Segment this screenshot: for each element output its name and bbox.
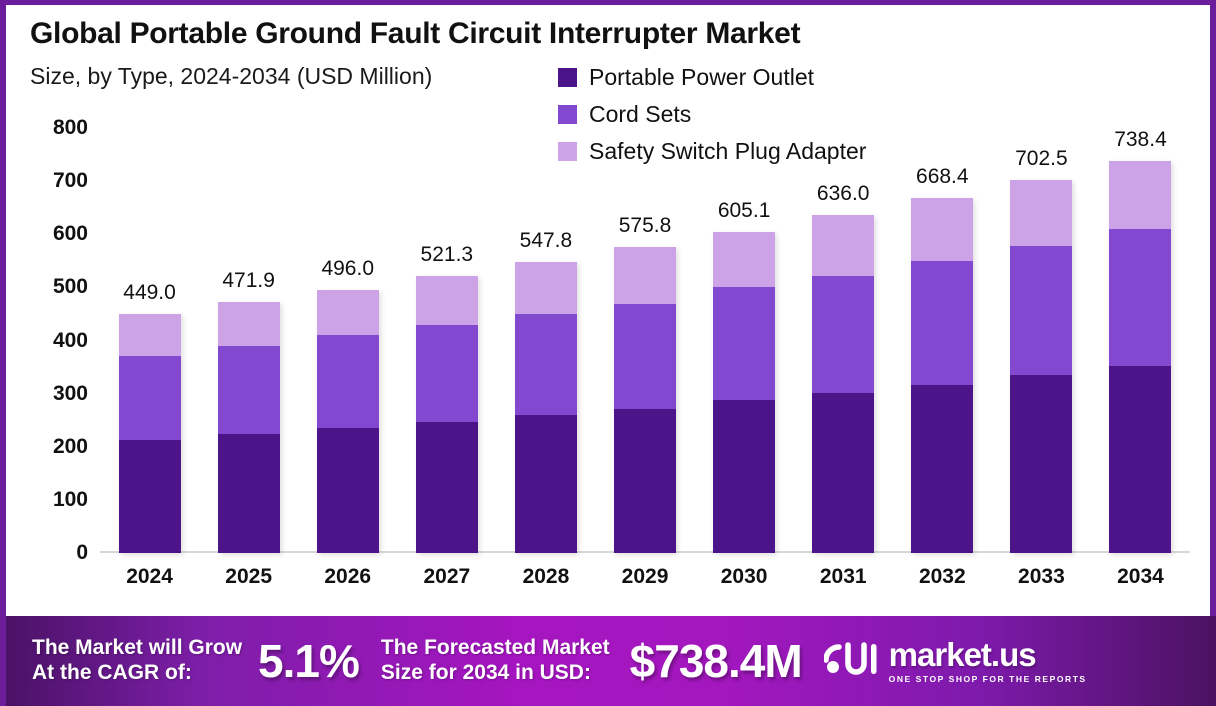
cagr-caption-line2: At the CAGR of: [32,661,242,686]
bar-segment[interactable] [1109,161,1171,229]
y-axis-tick-label: 600 [53,222,88,246]
bar-segment[interactable] [218,302,280,346]
legend-swatch-icon [558,105,577,124]
bar-segment[interactable] [812,393,874,553]
stacked-bar[interactable] [812,215,874,553]
bar-segment[interactable] [1109,366,1171,553]
x-axis-tick-label: 2031 [820,565,867,589]
stacked-bar[interactable] [515,262,577,553]
stacked-bar[interactable] [1109,161,1171,553]
y-axis-tick-label: 500 [53,275,88,299]
bar-segment[interactable] [812,215,874,276]
bar-total-label: 449.0 [123,281,176,305]
bar-segment[interactable] [416,276,478,325]
forecast-caption-line2: Size for 2034 in USD: [381,661,610,686]
footer-banner: The Market will Grow At the CAGR of: 5.1… [6,616,1216,706]
cagr-caption-line1: The Market will Grow [32,636,242,661]
y-axis-tick-label: 400 [53,329,88,353]
chart-plot-area: 8007006005004003002001000 449.02024471.9… [100,128,1190,553]
bar-group: 496.02026 [298,128,397,553]
bar-group: 575.82029 [595,128,694,553]
bar-total-label: 575.8 [619,214,672,238]
bar-segment[interactable] [1010,375,1072,553]
x-axis-tick-label: 2024 [126,565,173,589]
bar-total-label: 738.4 [1114,128,1167,152]
bar-segment[interactable] [515,262,577,314]
bar-segment[interactable] [812,276,874,393]
stacked-bar[interactable] [713,232,775,553]
bar-total-label: 702.5 [1015,147,1068,171]
bar-segment[interactable] [713,287,775,400]
stacked-bar[interactable] [218,302,280,553]
bar-segment[interactable] [911,385,973,553]
bar-group: 471.92025 [199,128,298,553]
bar-segment[interactable] [713,400,775,553]
bar-segment[interactable] [119,314,181,355]
bar-segment[interactable] [515,415,577,553]
bar-total-label: 496.0 [321,257,374,281]
x-axis-tick-label: 2029 [622,565,669,589]
stacked-bar[interactable] [416,276,478,553]
bar-segment[interactable] [218,346,280,434]
forecast-value: $738.4M [630,634,802,688]
x-axis-tick-label: 2033 [1018,565,1065,589]
page-title: Global Portable Ground Fault Circuit Int… [30,17,800,51]
bar-total-label: 668.4 [916,165,969,189]
bar-group: 521.32027 [397,128,496,553]
bar-group: 738.42034 [1091,128,1190,553]
bar-total-label: 636.0 [817,182,870,206]
bar-segment[interactable] [713,232,775,288]
x-axis-tick-label: 2027 [423,565,470,589]
bar-total-label: 521.3 [421,243,474,267]
legend-item-label: Portable Power Outlet [589,64,814,91]
logo-tagline: ONE STOP SHOP FOR THE REPORTS [889,674,1087,684]
bar-segment[interactable] [614,304,676,409]
bar-total-label: 471.9 [222,269,275,293]
x-axis-tick-label: 2030 [721,565,768,589]
bar-segment[interactable] [119,356,181,440]
y-axis-tick-label: 700 [53,169,88,193]
infographic-page: Global Portable Ground Fault Circuit Int… [0,0,1216,706]
y-axis-tick-label: 100 [53,488,88,512]
market-us-logo[interactable]: market.us ONE STOP SHOP FOR THE REPORTS [824,638,1087,684]
bar-segment[interactable] [911,198,973,261]
bar-segment[interactable] [317,335,379,427]
forecast-caption-line1: The Forecasted Market [381,636,610,661]
bar-group: 547.82028 [496,128,595,553]
bar-segment[interactable] [317,290,379,336]
bar-group: 636.02031 [794,128,893,553]
bar-group: 449.02024 [100,128,199,553]
x-axis-tick-label: 2025 [225,565,272,589]
x-axis-tick-label: 2032 [919,565,966,589]
bar-total-label: 547.8 [520,229,573,253]
bar-segment[interactable] [515,314,577,415]
market-us-mark-icon [824,640,880,683]
x-axis-tick-label: 2026 [324,565,371,589]
y-axis-tick-label: 0 [76,541,88,565]
bar-total-label: 605.1 [718,199,771,223]
bar-segment[interactable] [416,422,478,553]
stacked-bar[interactable] [119,314,181,553]
bar-segment[interactable] [218,434,280,553]
bar-segment[interactable] [614,247,676,304]
bar-segment[interactable] [614,409,676,554]
bar-segment[interactable] [1010,180,1072,246]
cagr-value: 5.1% [258,634,359,688]
stacked-bar[interactable] [317,290,379,554]
bar-group: 605.12030 [695,128,794,553]
bar-segment[interactable] [119,440,181,553]
x-axis-tick-label: 2034 [1117,565,1164,589]
stacked-bar[interactable] [911,198,973,553]
bar-segment[interactable] [1010,246,1072,375]
stacked-bar[interactable] [614,247,676,553]
stacked-bar[interactable] [1010,180,1072,553]
bar-segment[interactable] [1109,229,1171,366]
legend-item-portable-power-outlet[interactable]: Portable Power Outlet [558,59,866,96]
y-axis-tick-label: 200 [53,435,88,459]
bar-segment[interactable] [416,325,478,422]
y-axis-tick-label: 800 [53,116,88,140]
bar-series-container: 449.02024471.92025496.02026521.32027547.… [100,128,1190,553]
y-axis-tick-label: 300 [53,382,88,406]
legend-swatch-icon [558,68,577,87]
page-subtitle: Size, by Type, 2024-2034 (USD Million) [30,63,432,90]
x-axis-tick-label: 2028 [523,565,570,589]
bar-segment[interactable] [911,261,973,384]
legend-item-label: Cord Sets [589,101,691,128]
bar-group: 668.42032 [893,128,992,553]
bar-group: 702.52033 [992,128,1091,553]
bar-segment[interactable] [317,428,379,553]
logo-wordmark: market.us [889,636,1036,673]
